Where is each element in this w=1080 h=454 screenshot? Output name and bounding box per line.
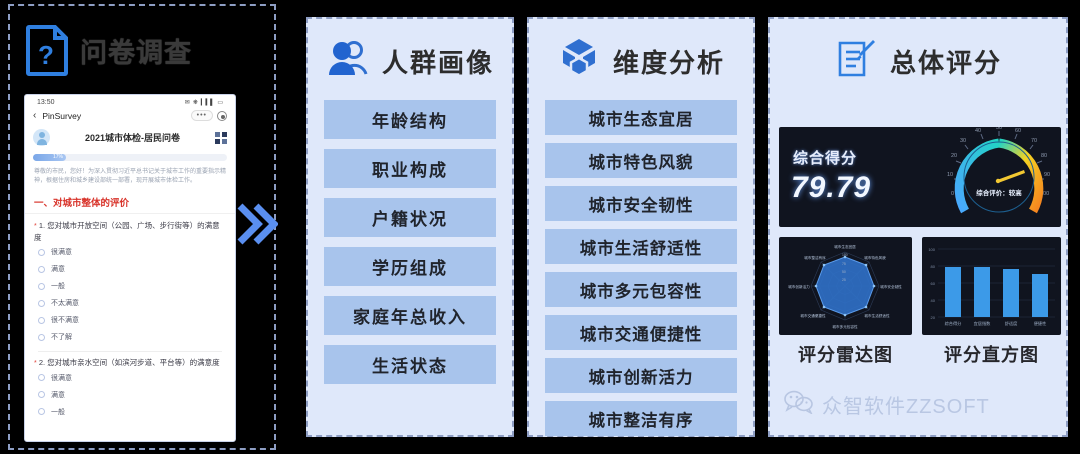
progress-fill: 17%: [33, 154, 66, 161]
status-time: 13:50: [37, 99, 55, 106]
dimension-item[interactable]: 城市特色风貌: [545, 143, 737, 178]
composite-score-gauge-card: 综合得分 79.79: [779, 127, 1061, 227]
svg-text:城市安全韧性: 城市安全韧性: [880, 284, 902, 289]
radio-icon[interactable]: [38, 266, 45, 273]
dimension-panel-header: 维度分析: [529, 19, 753, 94]
message-icon: ✉: [185, 99, 190, 106]
wifi-icon: ❋: [193, 99, 198, 106]
crowd-item[interactable]: 户籍状况: [324, 198, 496, 237]
radar-chart-caption: 评分雷达图: [779, 341, 912, 367]
svg-text:50: 50: [842, 270, 846, 274]
watermark: 众智软件ZZSOFT: [784, 390, 990, 419]
option-row[interactable]: 不太满意: [34, 295, 226, 312]
dimension-item[interactable]: 城市创新活力: [545, 358, 737, 393]
required-marker: *: [34, 360, 37, 367]
questionnaire-header: 2021城市体检-居民问卷: [25, 125, 235, 148]
svg-text:城市创新活力: 城市创新活力: [788, 284, 810, 289]
dimension-item[interactable]: 城市安全韧性: [545, 186, 737, 221]
svg-text:综合得分: 综合得分: [945, 320, 963, 327]
svg-text:城市交通便捷性: 城市交通便捷性: [800, 313, 826, 318]
option-row[interactable]: 很不满意: [34, 312, 226, 329]
dimension-panel-title: 维度分析: [613, 43, 725, 80]
double-chevron-right-icon: [236, 200, 278, 248]
survey-panel-title: 问卷调查: [80, 31, 192, 70]
option-label: 满意: [51, 264, 65, 274]
option-row[interactable]: 一般: [34, 403, 226, 420]
crowd-item[interactable]: 家庭年总收入: [324, 296, 496, 335]
progress-bar: 17%: [33, 154, 227, 161]
gauge-caption: 综合评价：较高: [976, 187, 1022, 197]
bar-chart-caption: 评分直方图: [922, 341, 1061, 367]
svg-text:宜居指数: 宜居指数: [974, 320, 992, 327]
question-body: 您对城市亲水空间（如滨河步道、平台等）的满意度: [47, 358, 220, 367]
progress-percent-label: 17%: [53, 154, 63, 160]
gauge-value: 79.79: [791, 171, 871, 205]
phone-mockup: 13:50 ✉ ❋ ▎▍▌ ▭ ‹ PinSurvey ••• 2021城市体检: [24, 94, 236, 442]
question-body: 您对城市开放空间（公园、广场、步行街等）的满意度: [34, 221, 220, 242]
score-radar-chart: 10075 5025 城市生态宜居 城市特色风貌 城市安全韧性 城市生活舒适性 …: [779, 237, 912, 335]
svg-text:40: 40: [975, 128, 981, 134]
crowd-item[interactable]: 年龄结构: [324, 100, 496, 139]
svg-text:舒适度: 舒适度: [1005, 320, 1018, 327]
question-item: * 2. 您对城市亲水空间（如滨河步道、平台等）的满意度 很满意 满意 一般: [25, 351, 235, 420]
svg-text:60: 60: [1015, 128, 1021, 134]
svg-text:80: 80: [1041, 153, 1047, 159]
watermark-text: 众智软件ZZSOFT: [822, 390, 990, 419]
svg-text:75: 75: [842, 262, 846, 266]
option-label: 满意: [51, 390, 65, 400]
signal-icon: ▎▍▌: [201, 99, 214, 106]
svg-text:30: 30: [960, 138, 966, 144]
nav-right-controls: •••: [191, 110, 227, 121]
avatar: [33, 129, 50, 146]
required-marker: *: [34, 223, 37, 230]
option-row[interactable]: 满意: [34, 386, 226, 403]
two-people-icon: [326, 37, 370, 86]
svg-text:90: 90: [1044, 172, 1050, 178]
option-row[interactable]: 满意: [34, 261, 226, 278]
crowd-portrait-panel: 人群画像 年龄结构 职业构成 户籍状况 学历组成 家庭年总收入 生活状态: [306, 17, 514, 437]
dimension-item[interactable]: 城市生态宜居: [545, 100, 737, 135]
option-row[interactable]: 不了解: [34, 329, 226, 346]
intro-text: 尊敬的市民，您好！为深入贯彻习近平总书记关于城市工作的重要指示精神，根据住房和城…: [25, 165, 235, 192]
svg-text:60: 60: [931, 281, 936, 286]
crowd-panel-header: 人群画像: [308, 19, 512, 94]
option-row[interactable]: 一般: [34, 278, 226, 295]
option-label: 很满意: [51, 373, 72, 383]
gauge-label: 综合得分: [793, 147, 857, 168]
clipboard-edit-icon: [834, 37, 878, 86]
survey-panel-header: ? 问卷调查: [24, 24, 192, 76]
score-panel-header: 总体评分: [770, 19, 1066, 94]
svg-text:便捷性: 便捷性: [1034, 320, 1047, 327]
app-name-label: PinSurvey: [42, 111, 81, 121]
questionnaire-title: 2021城市体检-居民问卷: [58, 131, 207, 144]
radio-icon[interactable]: [38, 391, 45, 398]
score-bar-chart: 10080 6040 20 综合得分 宜居指数 舒适度 便捷性: [922, 237, 1061, 335]
close-target-icon[interactable]: [217, 111, 227, 121]
overall-score-panel: 总体评分 综合得分 79.79: [768, 17, 1068, 437]
option-label: 不了解: [51, 332, 72, 342]
svg-text:城市整洁有序: 城市整洁有序: [804, 255, 826, 260]
svg-text:10: 10: [947, 172, 953, 178]
option-label: 一般: [51, 281, 65, 291]
battery-icon: ▭: [217, 99, 223, 106]
question-text: * 1. 您对城市开放空间（公园、广场、步行街等）的满意度: [34, 220, 226, 244]
svg-text:城市特色风貌: 城市特色风貌: [864, 255, 886, 260]
svg-text:25: 25: [842, 278, 846, 282]
svg-text:80: 80: [931, 264, 936, 269]
svg-text:100: 100: [928, 247, 935, 252]
option-label: 不太满意: [51, 298, 79, 308]
dimension-analysis-panel: 维度分析 城市生态宜居 城市特色风貌 城市安全韧性 城市生活舒适性 城市多元包容…: [527, 17, 755, 437]
radio-icon[interactable]: [38, 408, 45, 415]
option-label: 很不满意: [51, 315, 79, 325]
radio-icon[interactable]: [38, 249, 45, 256]
question-item: * 1. 您对城市开放空间（公园、广场、步行街等）的满意度 很满意 满意 一般 …: [25, 214, 235, 352]
phone-nav-bar: ‹ PinSurvey •••: [25, 108, 235, 125]
svg-text:40: 40: [931, 298, 936, 303]
dimension-item[interactable]: 城市交通便捷性: [545, 315, 737, 350]
phone-status-bar: 13:50 ✉ ❋ ▎▍▌ ▭: [25, 95, 235, 108]
crowd-item-list: 年龄结构 职业构成 户籍状况 学历组成 家庭年总收入 生活状态: [308, 94, 512, 394]
crowd-item[interactable]: 学历组成: [324, 247, 496, 286]
question-number: 2.: [39, 358, 45, 367]
svg-text:城市生活舒适性: 城市生活舒适性: [864, 313, 890, 318]
dimension-item-list: 城市生态宜居 城市特色风貌 城市安全韧性 城市生活舒适性 城市多元包容性 城市交…: [529, 94, 753, 444]
radio-icon[interactable]: [38, 317, 45, 324]
question-number: 1.: [39, 221, 45, 230]
radio-icon[interactable]: [38, 374, 45, 381]
back-chevron-icon[interactable]: ‹: [33, 110, 36, 121]
crowd-item[interactable]: 生活状态: [324, 345, 496, 384]
radio-icon[interactable]: [38, 300, 45, 307]
dimension-item[interactable]: 城市多元包容性: [545, 272, 737, 307]
cube-icon: [557, 37, 601, 86]
option-row[interactable]: 很满意: [34, 369, 226, 386]
svg-text:70: 70: [1031, 138, 1037, 144]
grid-view-icon[interactable]: [215, 132, 227, 144]
wechat-icon: [784, 390, 814, 419]
svg-text:50: 50: [996, 127, 1002, 131]
score-panel-title: 总体评分: [890, 43, 1002, 80]
radio-icon[interactable]: [38, 283, 45, 290]
poster-canvas: ? 问卷调查 13:50 ✉ ❋ ▎▍▌ ▭ ‹ PinSurvey •••: [0, 0, 1080, 454]
section-title: 一、对城市整体的评价: [25, 192, 235, 214]
svg-text:100: 100: [842, 253, 848, 257]
option-label: 很满意: [51, 247, 72, 257]
option-row[interactable]: 很满意: [34, 244, 226, 261]
svg-text:20: 20: [951, 153, 957, 159]
radio-icon[interactable]: [38, 334, 45, 341]
dimension-item[interactable]: 城市生活舒适性: [545, 229, 737, 264]
question-text: * 2. 您对城市亲水空间（如滨河步道、平台等）的满意度: [34, 357, 226, 369]
more-menu-button[interactable]: •••: [191, 110, 213, 121]
svg-text:0: 0: [951, 191, 954, 197]
option-label: 一般: [51, 407, 65, 417]
dimension-item[interactable]: 城市整洁有序: [545, 401, 737, 436]
document-question-icon: ?: [24, 24, 70, 76]
svg-text:城市生态宜居: 城市生态宜居: [834, 244, 856, 249]
gauge-chart: 5060 7080 90100 4030 2010 0: [945, 127, 1053, 227]
crowd-panel-title: 人群画像: [382, 43, 494, 80]
crowd-item[interactable]: 职业构成: [324, 149, 496, 188]
svg-text:?: ?: [38, 40, 54, 70]
status-icons: ✉ ❋ ▎▍▌ ▭: [185, 99, 223, 106]
svg-text:城市多元包容性: 城市多元包容性: [832, 324, 858, 329]
svg-text:20: 20: [931, 315, 936, 320]
